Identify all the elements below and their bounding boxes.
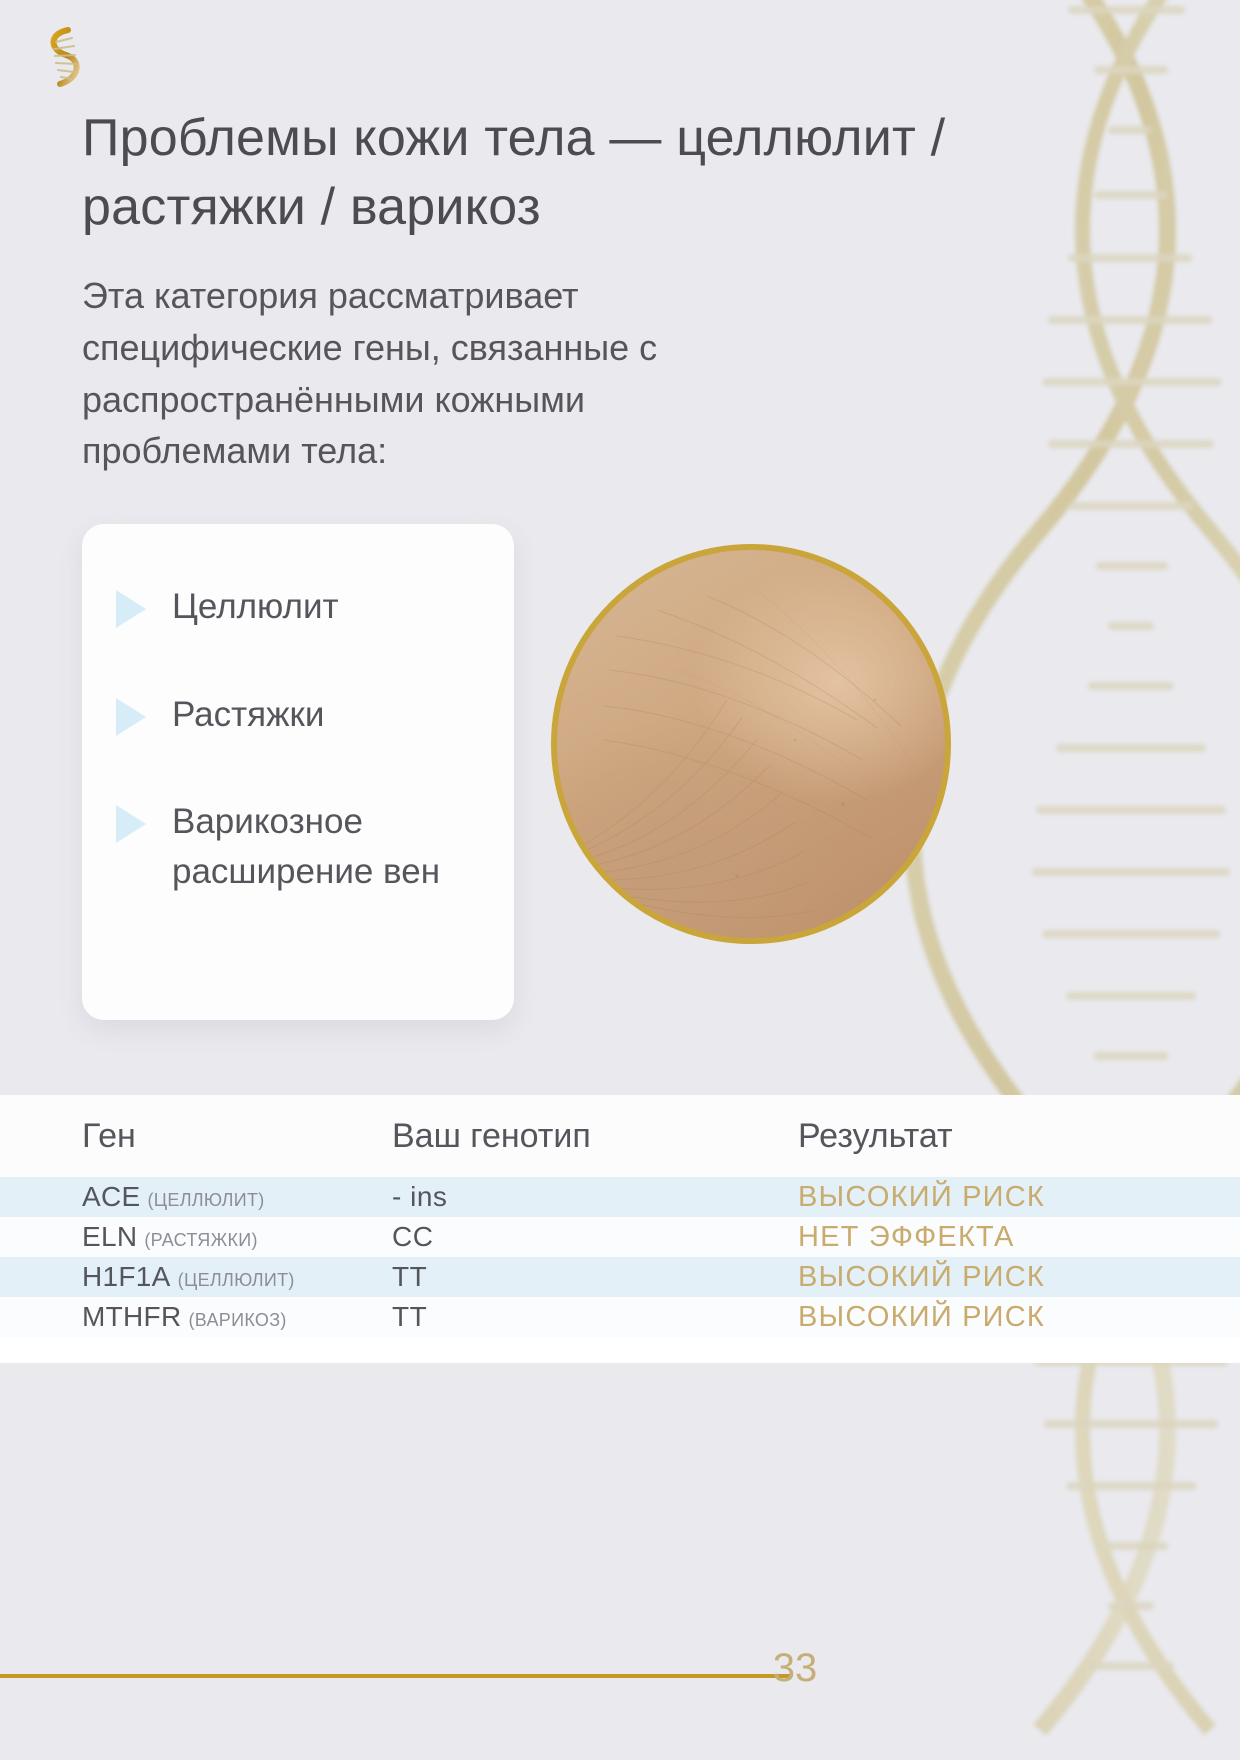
footer-divider xyxy=(0,1674,790,1678)
page-subtitle: Эта категория рассматривает специфически… xyxy=(82,270,802,477)
column-header-gene: Ген xyxy=(82,1117,392,1156)
conditions-card: Целлюлит Растяжки Варикозное расширение … xyxy=(82,524,514,1020)
gene-name: ACE xyxy=(82,1181,140,1212)
list-item-label: Варикозное расширение вен xyxy=(172,797,480,896)
skin-creases xyxy=(557,550,951,944)
genotype-results-table: Ген Ваш генотип Результат ACE(ЦЕЛЛЮЛИТ) … xyxy=(0,1095,1240,1363)
cell-gene: MTHFR(ВАРИКОЗ) xyxy=(82,1301,392,1333)
gene-name: H1F1A xyxy=(82,1261,171,1292)
column-header-genotype: Ваш генотип xyxy=(392,1117,798,1156)
table-header-row: Ген Ваш генотип Результат xyxy=(0,1095,1240,1177)
triangle-bullet-icon xyxy=(116,698,146,736)
cell-result: ВЫСОКИЙ РИСК xyxy=(798,1301,1158,1334)
table-row: MTHFR(ВАРИКОЗ) TT ВЫСОКИЙ РИСК xyxy=(0,1297,1240,1337)
cell-result: ВЫСОКИЙ РИСК xyxy=(798,1181,1158,1214)
list-item-label: Растяжки xyxy=(172,690,324,740)
cell-genotype: TT xyxy=(392,1261,798,1293)
gene-name: MTHFR xyxy=(82,1301,181,1332)
gene-note: (ЦЕЛЛЮЛИТ) xyxy=(147,1190,264,1210)
list-item-label: Целлюлит xyxy=(172,582,339,632)
slide-page: Проблемы кожи тела — целлюлит / растяжки… xyxy=(0,0,1240,1754)
table-row: ELN(РАСТЯЖКИ) CC НЕТ ЭФФЕКТА xyxy=(0,1217,1240,1257)
cell-result: ВЫСОКИЙ РИСК xyxy=(798,1261,1158,1294)
dna-helix-icon xyxy=(34,22,90,92)
gene-note: (РАСТЯЖКИ) xyxy=(144,1230,257,1250)
table-row: ACE(ЦЕЛЛЮЛИТ) - ins ВЫСОКИЙ РИСК xyxy=(0,1177,1240,1217)
table-row: H1F1A(ЦЕЛЛЮЛИТ) TT ВЫСОКИЙ РИСК xyxy=(0,1257,1240,1297)
page-number: 33 xyxy=(735,1646,855,1691)
table-bottom-spacer xyxy=(0,1337,1240,1363)
cell-genotype: CC xyxy=(392,1221,798,1253)
cell-genotype: TT xyxy=(392,1301,798,1333)
column-header-result: Результат xyxy=(798,1117,1158,1156)
cell-gene: H1F1A(ЦЕЛЛЮЛИТ) xyxy=(82,1261,392,1293)
triangle-bullet-icon xyxy=(116,805,146,843)
cell-genotype: - ins xyxy=(392,1181,798,1213)
gene-name: ELN xyxy=(82,1221,137,1252)
cell-gene: ELN(РАСТЯЖКИ) xyxy=(82,1221,392,1253)
list-item: Растяжки xyxy=(116,690,480,740)
list-item: Целлюлит xyxy=(116,582,480,632)
cellulite-skin-photo xyxy=(551,544,951,944)
triangle-bullet-icon xyxy=(116,590,146,628)
gene-note: (ВАРИКОЗ) xyxy=(188,1310,286,1330)
page-title: Проблемы кожи тела — целлюлит / растяжки… xyxy=(82,104,962,242)
cell-result: НЕТ ЭФФЕКТА xyxy=(798,1221,1158,1254)
cell-gene: ACE(ЦЕЛЛЮЛИТ) xyxy=(82,1181,392,1213)
list-item: Варикозное расширение вен xyxy=(116,797,480,896)
gene-note: (ЦЕЛЛЮЛИТ) xyxy=(178,1270,295,1290)
